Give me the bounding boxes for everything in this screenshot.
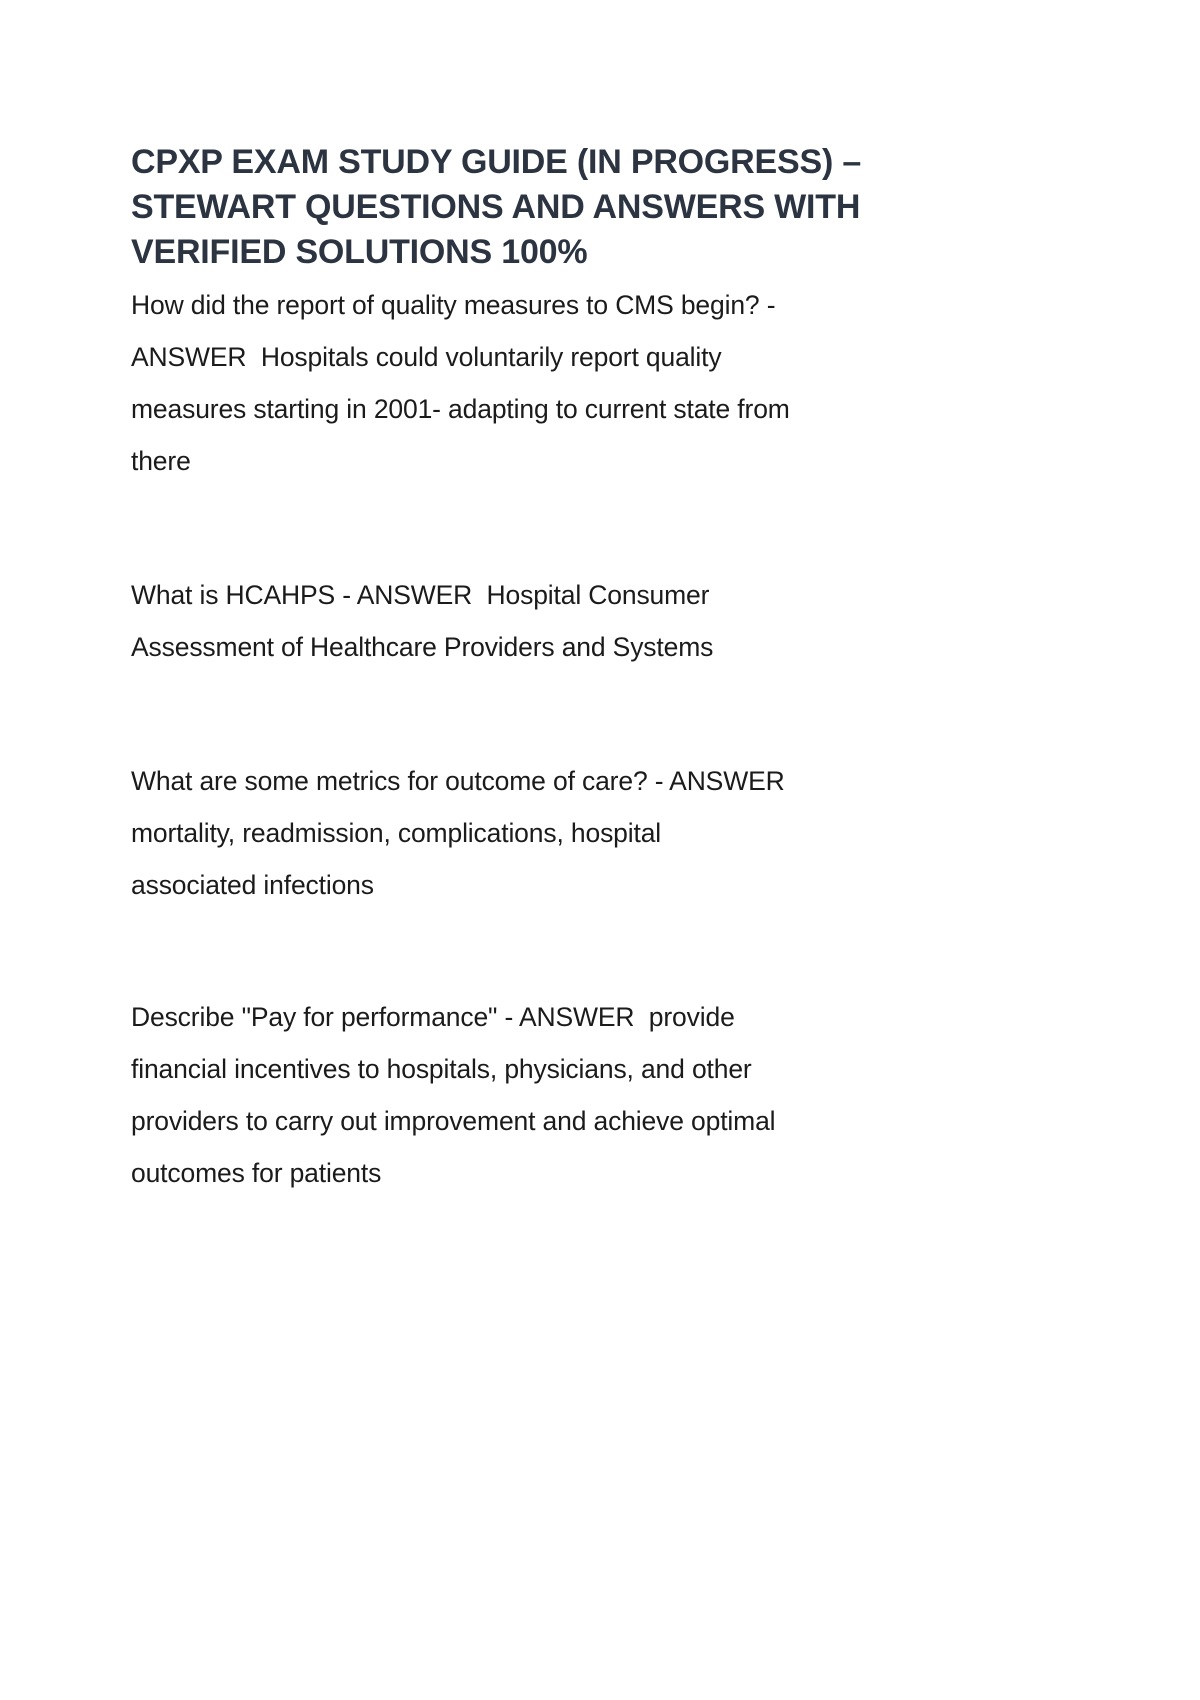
qa-item-3-line-3: associated infections xyxy=(131,859,971,911)
page-title-line-3: VERIFIED SOLUTIONS 100% xyxy=(131,230,991,275)
qa-item-4-line-3: providers to carry out improvement and a… xyxy=(131,1095,976,1147)
qa-item-3-line-2: mortality, readmission, complications, h… xyxy=(131,807,971,859)
qa-item-4: Describe "Pay for performance" - ANSWER … xyxy=(131,991,976,1199)
document-content: CPXP EXAM STUDY GUIDE (IN PROGRESS) – ST… xyxy=(131,140,991,1199)
page-title-line-2: STEWART QUESTIONS AND ANSWERS WITH xyxy=(131,185,991,230)
qa-item-2-line-1: What is HCAHPS - ANSWER Hospital Consume… xyxy=(131,569,931,621)
qa-item-4-line-2: financial incentives to hospitals, physi… xyxy=(131,1043,976,1095)
qa-item-3-line-1: What are some metrics for outcome of car… xyxy=(131,755,971,807)
qa-item-1-line-2: ANSWER Hospitals could voluntarily repor… xyxy=(131,331,987,383)
qa-item-4-line-1: Describe "Pay for performance" - ANSWER … xyxy=(131,991,976,1043)
page-title-line-1: CPXP EXAM STUDY GUIDE (IN PROGRESS) – xyxy=(131,140,991,185)
qa-item-3: What are some metrics for outcome of car… xyxy=(131,755,971,911)
qa-item-1-line-1: How did the report of quality measures t… xyxy=(131,279,987,331)
qa-item-1-line-4: there xyxy=(131,435,987,487)
page-title: CPXP EXAM STUDY GUIDE (IN PROGRESS) – ST… xyxy=(131,140,991,275)
qa-item-2-line-2: Assessment of Healthcare Providers and S… xyxy=(131,621,931,673)
qa-item-1: How did the report of quality measures t… xyxy=(131,279,987,487)
qa-item-2: What is HCAHPS - ANSWER Hospital Consume… xyxy=(131,569,931,673)
qa-item-1-line-3: measures starting in 2001- adapting to c… xyxy=(131,383,987,435)
document-page: CPXP EXAM STUDY GUIDE (IN PROGRESS) – ST… xyxy=(0,0,1200,1700)
qa-item-4-line-4: outcomes for patients xyxy=(131,1147,976,1199)
